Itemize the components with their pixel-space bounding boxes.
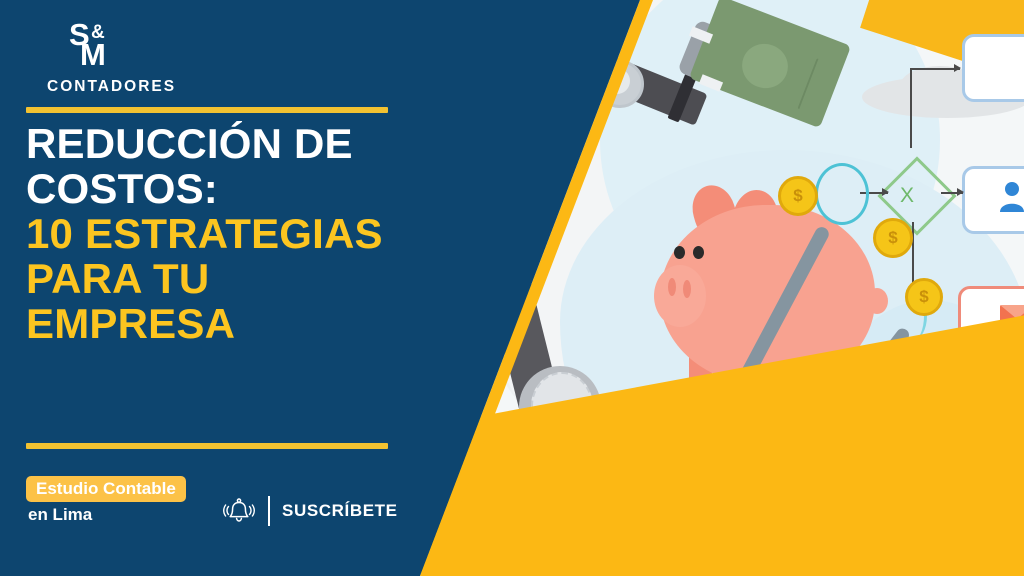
logo-mark: S & M <box>47 22 157 74</box>
flow-arrowhead-3 <box>957 188 964 196</box>
coin-symbol: $ <box>888 228 897 248</box>
logo-wordmark: CONTADORES <box>47 78 176 96</box>
page-title: REDUCCIÓN DE COSTOS: 10 ESTRATEGIAS PARA… <box>26 122 466 347</box>
headline-line-5: EMPRESA <box>26 302 466 347</box>
logo[interactable]: S & M CONTADORES <box>47 22 157 74</box>
piggy-bank-nostril-2 <box>683 280 691 298</box>
coin-symbol: $ <box>919 287 928 307</box>
left-content: S & M CONTADORES REDUCCIÓN DE COSTOS: 10… <box>0 0 470 576</box>
piggy-bank-nostril-1 <box>668 278 676 296</box>
piggy-bank-eye-right <box>693 246 704 259</box>
coin-1: $ <box>778 176 818 216</box>
headline-line-4: PARA TU <box>26 257 466 302</box>
teal-circle-accent <box>815 163 869 225</box>
flow-node-box-1 <box>962 34 1024 102</box>
subscribe-divider <box>268 496 270 526</box>
piggy-bank-eye-left <box>674 246 685 259</box>
user-icon <box>998 180 1024 214</box>
accent-rule-top <box>26 107 388 113</box>
piggy-bank-snout <box>654 265 706 327</box>
subscribe-label: SUSCRÍBETE <box>282 501 398 521</box>
coin-symbol: $ <box>793 186 802 206</box>
coin-2: $ <box>873 218 913 258</box>
headline-line-2: COSTOS: <box>26 167 466 212</box>
subscribe-cta[interactable]: SUSCRÍBETE <box>222 494 398 528</box>
flow-connector-h1 <box>910 68 960 70</box>
flow-arrowhead-1 <box>954 64 961 72</box>
bell-icon[interactable] <box>222 494 256 528</box>
flow-gateway-label: X <box>900 184 914 208</box>
accent-rule-bottom <box>26 443 388 449</box>
headline-line-3: 10 ESTRATEGIAS <box>26 212 466 257</box>
studio-badge: Estudio Contable <box>26 476 186 502</box>
flow-arrowhead-2 <box>882 188 889 196</box>
logo-letter-m: M <box>80 42 105 67</box>
headline-line-1: REDUCCIÓN DE <box>26 122 466 167</box>
flow-connector-v1 <box>910 68 912 148</box>
thumbnail-canvas: X $ $ $ <box>0 0 1024 576</box>
coin-3: $ <box>905 278 943 316</box>
